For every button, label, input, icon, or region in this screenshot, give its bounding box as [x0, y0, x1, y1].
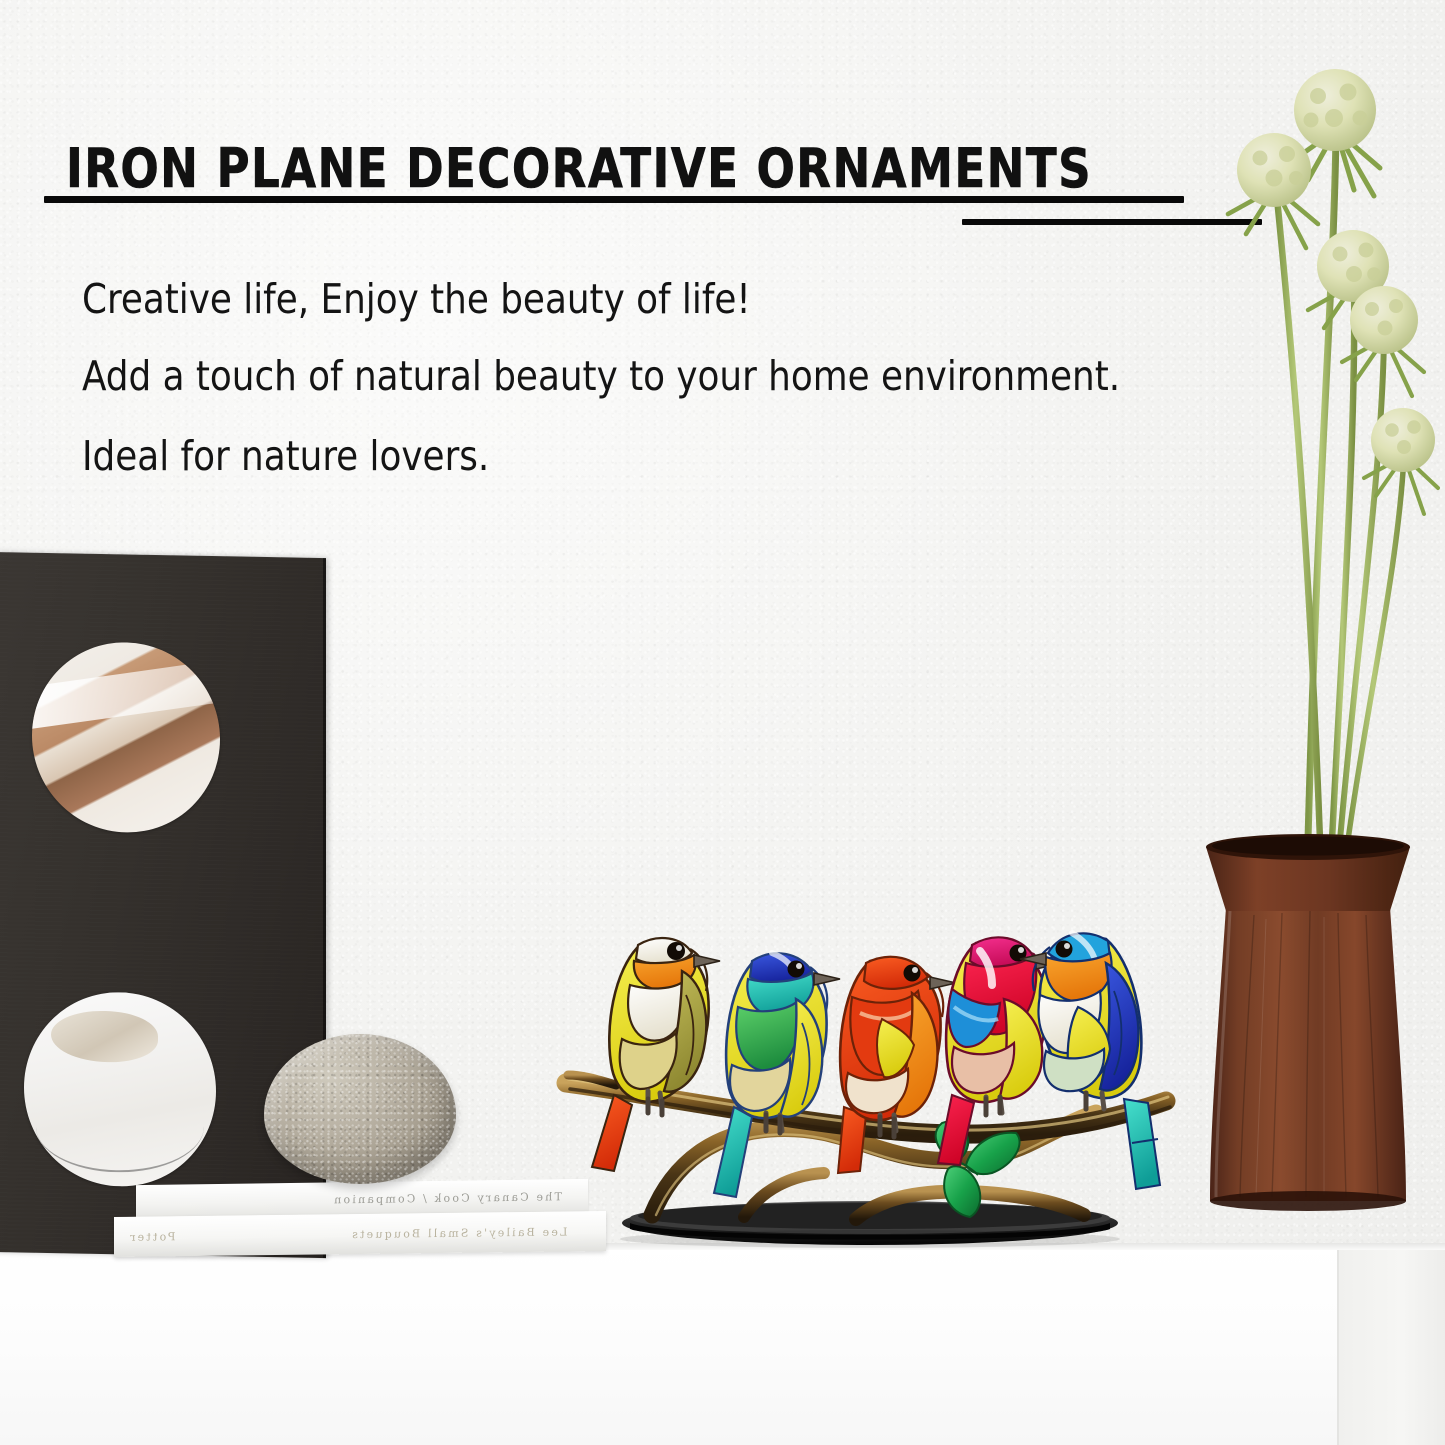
sculpture-shadow [620, 1230, 1120, 1248]
tagline-line-1: Creative life, Enjoy the beauty of life! [82, 275, 751, 323]
pebble-speckle-texture [264, 1034, 456, 1184]
flowers-svg [1168, 48, 1445, 848]
tagline-line-3: Ideal for nature lovers. [82, 432, 489, 480]
flower-head-2 [1228, 133, 1318, 248]
shelf-corner-panel [1338, 1250, 1445, 1445]
shelf-surface [0, 1243, 1445, 1445]
book-lower-spine-left: Potter [128, 1230, 175, 1244]
page-title: IRON PLANE DECORATIVE ORNAMENTS [66, 137, 1092, 200]
tagline-line-2: Add a touch of natural beauty to your ho… [82, 352, 1120, 400]
book-upper-spine-text: The Canary Cook / Companion [332, 1190, 562, 1206]
book-lower-spine-right: Lee Bailey's Small Bouquets [350, 1225, 567, 1241]
dried-flower-arrangement [1168, 48, 1445, 848]
wooden-vase [1196, 829, 1420, 1247]
bird-1 [592, 938, 720, 1171]
mirror-cutout-top [32, 641, 220, 834]
sculpture-svg [556, 893, 1184, 1253]
bird-sculpture [556, 893, 1184, 1253]
bird-2 [714, 953, 840, 1197]
mirror-cutout-bottom [24, 991, 216, 1189]
title-underline-primary [44, 196, 1184, 203]
product-marketing-image: IRON PLANE DECORATIVE ORNAMENTS Creative… [0, 0, 1445, 1445]
shelf-corner-edge [1337, 1250, 1339, 1445]
dark-decor-panel [0, 552, 326, 1258]
vase-svg [1196, 829, 1420, 1247]
book-lower: Potter Lee Bailey's Small Bouquets [114, 1211, 606, 1257]
decorative-pebble [264, 1034, 456, 1184]
